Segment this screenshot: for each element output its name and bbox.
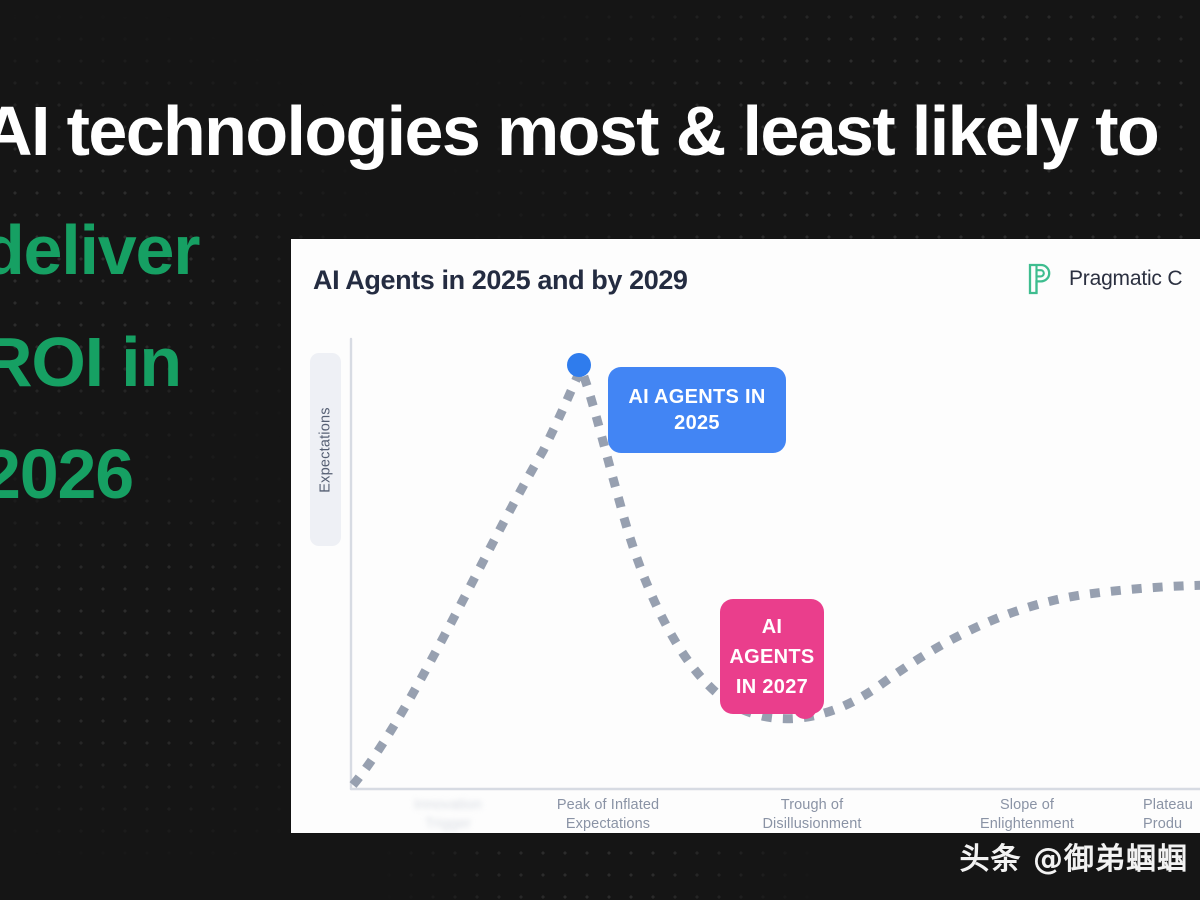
hype-cycle-chart-card: AI Agents in 2025 and by 2029 Pragmatic … [291,239,1200,833]
stage-label-trough-of-disillusionment: Trough of Disillusionment [719,796,905,833]
callout-ai-agents-2027[interactable]: AI AGENTS IN 2027 [720,599,824,714]
brand-name: Pragmatic C [1069,267,1182,291]
y-axis-label-pill: Expectations [310,353,341,546]
stage-label-slope-of-enlightenment: Slope of Enlightenment [931,796,1123,833]
plot-area: Expectations Time Innovation Trigger Pea… [291,311,1200,833]
y-axis-label: Expectations [318,407,334,492]
stage-3-line-1: Slope of [931,796,1123,815]
chart-header: AI Agents in 2025 and by 2029 Pragmatic … [291,239,1200,311]
callout-blue-line-2: 2025 [628,410,765,436]
stage-1-line-1: Peak of Inflated [513,796,703,815]
stage-4-line-1: Plateau [1143,796,1200,815]
stage-2-line-2: Disillusionment [719,815,905,833]
chart-title: AI Agents in 2025 and by 2029 [313,265,688,296]
stage-1-line-2: Expectations [513,815,703,833]
pragmatic-p-logo-icon [1027,263,1057,295]
callout-pink-line-3: IN 2027 [729,672,814,702]
callout-pink-line-1: AI [729,612,814,642]
stage-label-peak-of-inflated-expectations: Peak of Inflated Expectations [513,796,703,833]
stage-4-line-2: Produ [1143,815,1200,833]
callout-ai-agents-2025[interactable]: AI AGENTS IN 2025 [608,367,786,453]
stage-label-plateau-of-productivity: Plateau Produ [1143,796,1200,833]
callout-pink-line-2: AGENTS [729,642,814,672]
watermark: 头条 @御弟蝈蝈 [960,834,1188,878]
callout-blue-line-1: AI AGENTS IN [628,384,765,410]
marker-ai-agents-2025 [567,353,591,377]
stage-3-line-2: Enlightenment [931,815,1123,833]
brand-logo: Pragmatic C [1027,263,1182,295]
stage-2-line-1: Trough of [719,796,905,815]
